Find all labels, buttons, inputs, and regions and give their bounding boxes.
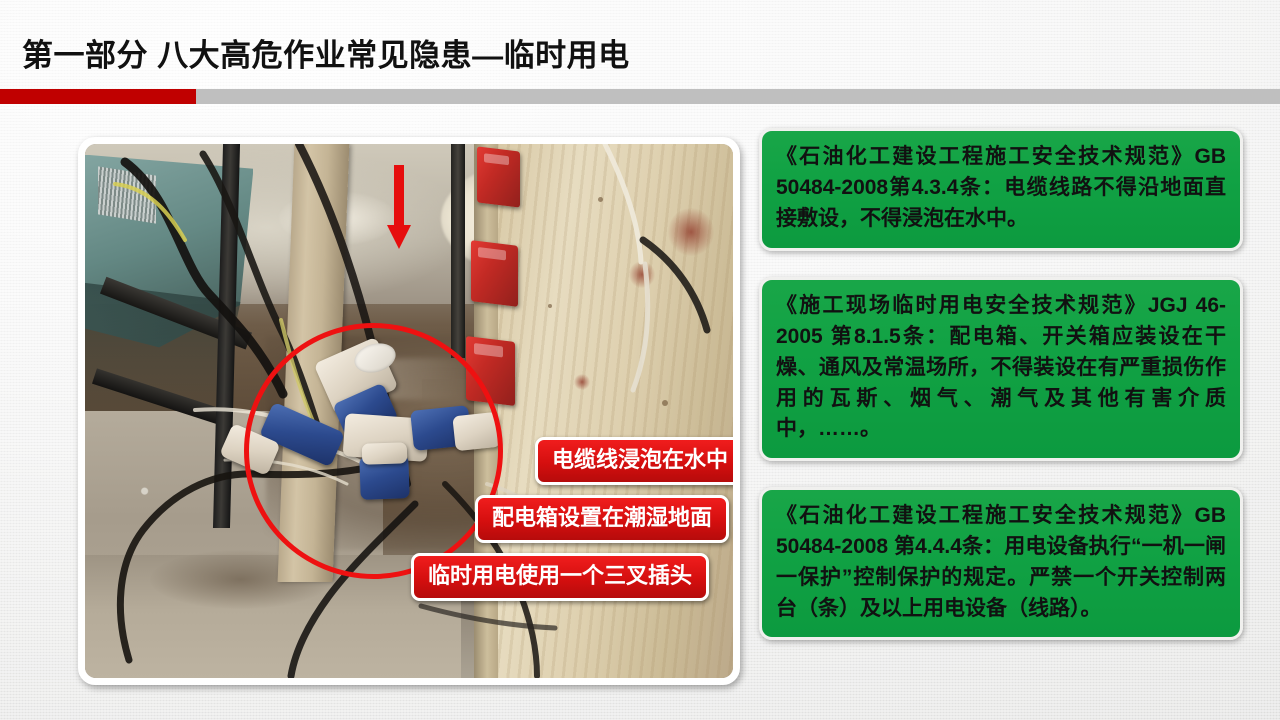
page-title: 第一部分 八大高危作业常见隐患—临时用电 [22, 30, 630, 75]
callout-cable-in-water[interactable]: 电缆线浸泡在水中 [535, 437, 733, 485]
regulation-box-1: 《石油化工建设工程施工安全技术规范》GB 50484-2008第4.3.4条：电… [759, 128, 1243, 251]
site-photo: 电缆线浸泡在水中 配电箱设置在潮湿地面 临时用电使用一个三叉插头 [85, 144, 733, 678]
circle-highlight-icon [244, 323, 503, 579]
callout-box-on-wet-ground[interactable]: 配电箱设置在潮湿地面 [475, 495, 729, 543]
slide-canvas: 第一部分 八大高危作业常见隐患—临时用电 [0, 0, 1280, 720]
down-arrow-icon [386, 165, 412, 251]
header-divider-red [0, 89, 196, 104]
photo-frame: 电缆线浸泡在水中 配电箱设置在潮湿地面 临时用电使用一个三叉插头 [78, 137, 740, 685]
regulation-box-3: 《石油化工建设工程施工安全技术规范》GB 50484-2008 第4.4.4条：… [759, 487, 1243, 640]
callout-three-way-plug[interactable]: 临时用电使用一个三叉插头 [411, 553, 709, 601]
regulation-box-2: 《施工现场临时用电安全技术规范》JGJ 46-2005 第8.1.5条：配电箱、… [759, 277, 1243, 461]
